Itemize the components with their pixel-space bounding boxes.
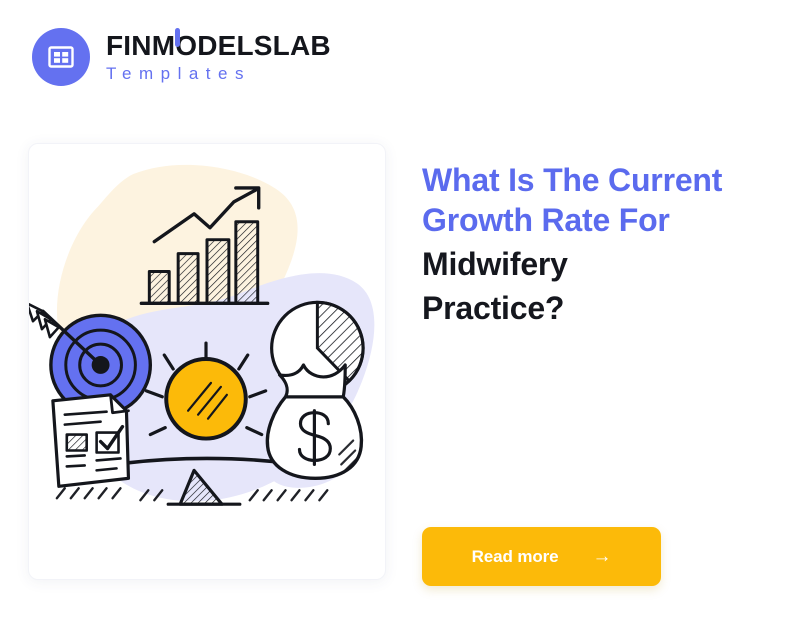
document-with-checkmark (53, 395, 129, 486)
illustration-card (28, 143, 386, 580)
headline-accent-line-2: Growth Rate For (422, 200, 772, 240)
brand-subtitle: Templates (106, 64, 331, 84)
headline-dark-line-1: Midwifery (422, 244, 772, 284)
brand-name: FINMODELSLAB (106, 31, 331, 61)
pin-accent-icon (175, 28, 180, 47)
brand-logo[interactable]: FINMODELSLAB Templates (32, 28, 331, 86)
read-more-label: Read more (472, 547, 559, 567)
page-title: What Is The Current Growth Rate For Midw… (422, 160, 772, 328)
headline-dark-line-2: Practice? (422, 288, 772, 328)
business-growth-illustration (29, 144, 385, 579)
arrow-right-icon: → (593, 547, 612, 566)
headline-accent-line-1: What Is The Current (422, 160, 772, 200)
read-more-button[interactable]: Read more → (422, 527, 661, 586)
headline-block: What Is The Current Growth Rate For Midw… (422, 160, 772, 328)
promo-banner: FINMODELSLAB Templates (0, 0, 800, 618)
brand-text: FINMODELSLAB Templates (106, 31, 331, 84)
grid-window-icon (32, 28, 90, 86)
brand-name-label: FINMODELSLAB (106, 30, 331, 61)
